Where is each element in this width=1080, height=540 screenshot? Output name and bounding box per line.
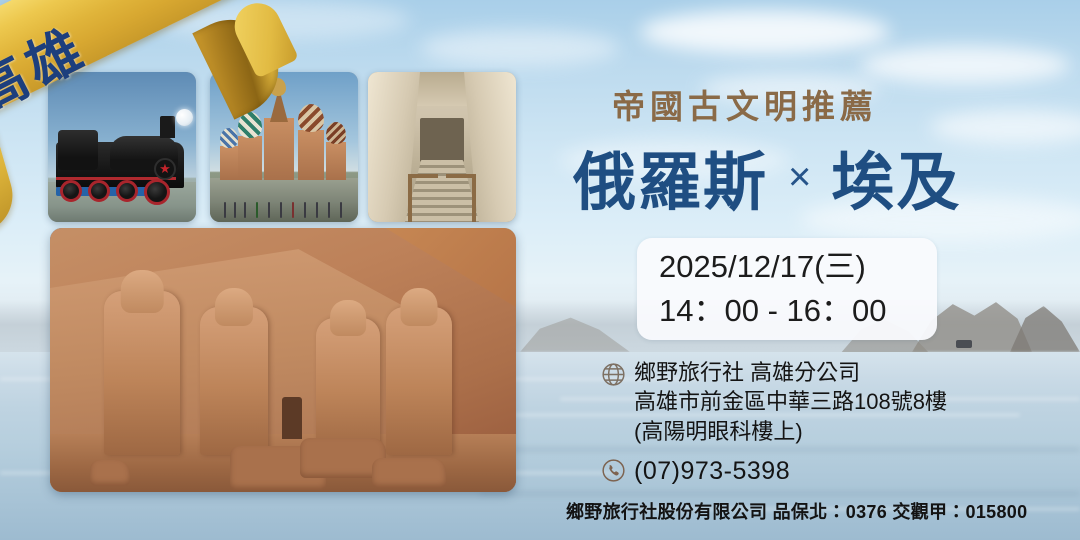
company-address-note: (高陽明眼科樓上): [634, 417, 947, 446]
multiply-icon: ×: [788, 155, 813, 200]
company-address: 高雄市前金區中華三路108號8樓: [634, 387, 947, 416]
schedule-box: 2025/12/17(三) 14：00 - 16：00: [637, 238, 937, 340]
cloud-decoration: [860, 46, 1070, 84]
city-ribbon: 高雄: [0, 0, 328, 240]
globe-icon: [600, 358, 634, 393]
headline-destination-left: 俄羅斯: [573, 132, 768, 223]
vehicle-on-ice: [956, 340, 972, 348]
company-branch: 鄉野旅行社 高雄分公司: [634, 358, 947, 387]
event-time: 14：00 - 16：00: [659, 289, 937, 333]
phone-row: (07)973-5398: [600, 454, 1070, 489]
headline-destination-right: 埃及: [831, 132, 961, 223]
cloud-decoration: [640, 10, 890, 54]
event-date: 2025/12/17(三): [659, 245, 937, 289]
ribbon-city-label: 高雄: [0, 0, 206, 129]
subtitle: 帝國古文明推薦: [612, 80, 878, 128]
photo-egyptian-tomb: [368, 72, 516, 222]
cloud-decoration: [420, 30, 620, 66]
address-row: 鄉野旅行社 高雄分公司 高雄市前金區中華三路108號8樓 (高陽明眼科樓上): [600, 358, 1070, 446]
phone-number: (07)973-5398: [634, 457, 790, 486]
photo-abu-simbel: [50, 228, 516, 492]
ribbon-tail: [0, 129, 21, 247]
travel-seminar-banner: 高雄 帝國古文明推薦 俄羅斯 × 埃及 2025/12/17(三) 14：00 …: [0, 0, 1080, 540]
phone-icon: [600, 454, 634, 489]
contact-block: 鄉野旅行社 高雄分公司 高雄市前金區中華三路108號8樓 (高陽明眼科樓上) (…: [600, 358, 1070, 489]
legal-footer: 鄉野旅行社股份有限公司 品保北：0376 交觀甲：015800: [566, 498, 1027, 524]
address-text-group: 鄉野旅行社 高雄分公司 高雄市前金區中華三路108號8樓 (高陽明眼科樓上): [634, 358, 947, 446]
page-title: 俄羅斯 × 埃及: [573, 132, 961, 223]
